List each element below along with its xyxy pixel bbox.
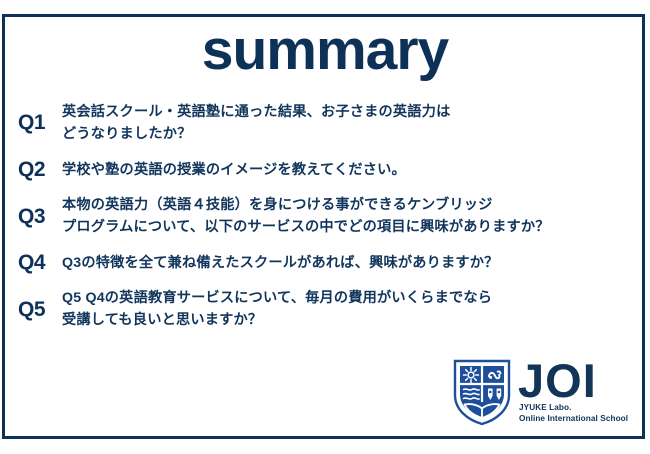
list-item: Q2 学校や塾の英語の授業のイメージを教えてください。 bbox=[18, 158, 640, 181]
question-number: Q2 bbox=[18, 158, 62, 181]
summary-slide: summary Q1 英会話スクール・英語塾に通った結果、お子さまの英語力は ど… bbox=[0, 0, 650, 454]
question-line: 本物の英語力（英語４技能）を身につける事ができるケンブリッジ bbox=[62, 194, 640, 216]
list-item: Q3 本物の英語力（英語４技能）を身につける事ができるケンブリッジ プログラムに… bbox=[18, 194, 640, 238]
tagline-line-1: JYUKE Labo. bbox=[519, 403, 628, 414]
page-title: summary bbox=[0, 22, 650, 79]
question-text: Q3の特徴を全て兼ね備えたスクールがあれば、興味がありますか？ bbox=[62, 252, 640, 274]
question-line: Q3の特徴を全て兼ね備えたスクールがあれば、興味がありますか？ bbox=[62, 252, 640, 274]
question-number: Q3 bbox=[18, 205, 62, 228]
question-text: 英会話スクール・英語塾に通った結果、お子さまの英語力は どうなりましたか？ bbox=[62, 101, 640, 145]
joi-logo: JOI JYUKE Labo. Online International Sch… bbox=[450, 355, 642, 430]
joi-wordmark: JOI bbox=[518, 357, 597, 404]
question-text: Q5 Q4の英語教育サービスについて、毎月の費用がいくらまでなら 受講しても良い… bbox=[62, 287, 640, 331]
question-number: Q4 bbox=[18, 251, 62, 274]
question-line: どうなりましたか？ bbox=[62, 123, 640, 145]
question-list: Q1 英会話スクール・英語塾に通った結果、お子さまの英語力は どうなりましたか？… bbox=[18, 101, 640, 331]
logo-tagline: JYUKE Labo. Online International School bbox=[519, 403, 628, 425]
question-line: 学校や塾の英語の授業のイメージを教えてください。 bbox=[62, 159, 640, 181]
question-text: 本物の英語力（英語４技能）を身につける事ができるケンブリッジ プログラムについて… bbox=[62, 194, 640, 238]
tagline-line-2: Online International School bbox=[519, 414, 628, 425]
list-item: Q4 Q3の特徴を全て兼ね備えたスクールがあれば、興味がありますか？ bbox=[18, 251, 640, 274]
question-number: Q1 bbox=[18, 111, 62, 134]
list-item: Q5 Q5 Q4の英語教育サービスについて、毎月の費用がいくらまでなら 受講して… bbox=[18, 287, 640, 331]
question-line: 英会話スクール・英語塾に通った結果、お子さまの英語力は bbox=[62, 101, 640, 123]
question-line: Q5 Q4の英語教育サービスについて、毎月の費用がいくらまでなら bbox=[62, 287, 640, 309]
shield-logo-icon bbox=[452, 357, 512, 427]
list-item: Q1 英会話スクール・英語塾に通った結果、お子さまの英語力は どうなりましたか？ bbox=[18, 101, 640, 145]
question-line: プログラムについて、以下のサービスの中でどの項目に興味がありますか？ bbox=[62, 216, 640, 238]
question-text: 学校や塾の英語の授業のイメージを教えてください。 bbox=[62, 159, 640, 181]
question-number: Q5 bbox=[18, 298, 62, 321]
question-line: 受講しても良いと思いますか？ bbox=[62, 309, 640, 331]
